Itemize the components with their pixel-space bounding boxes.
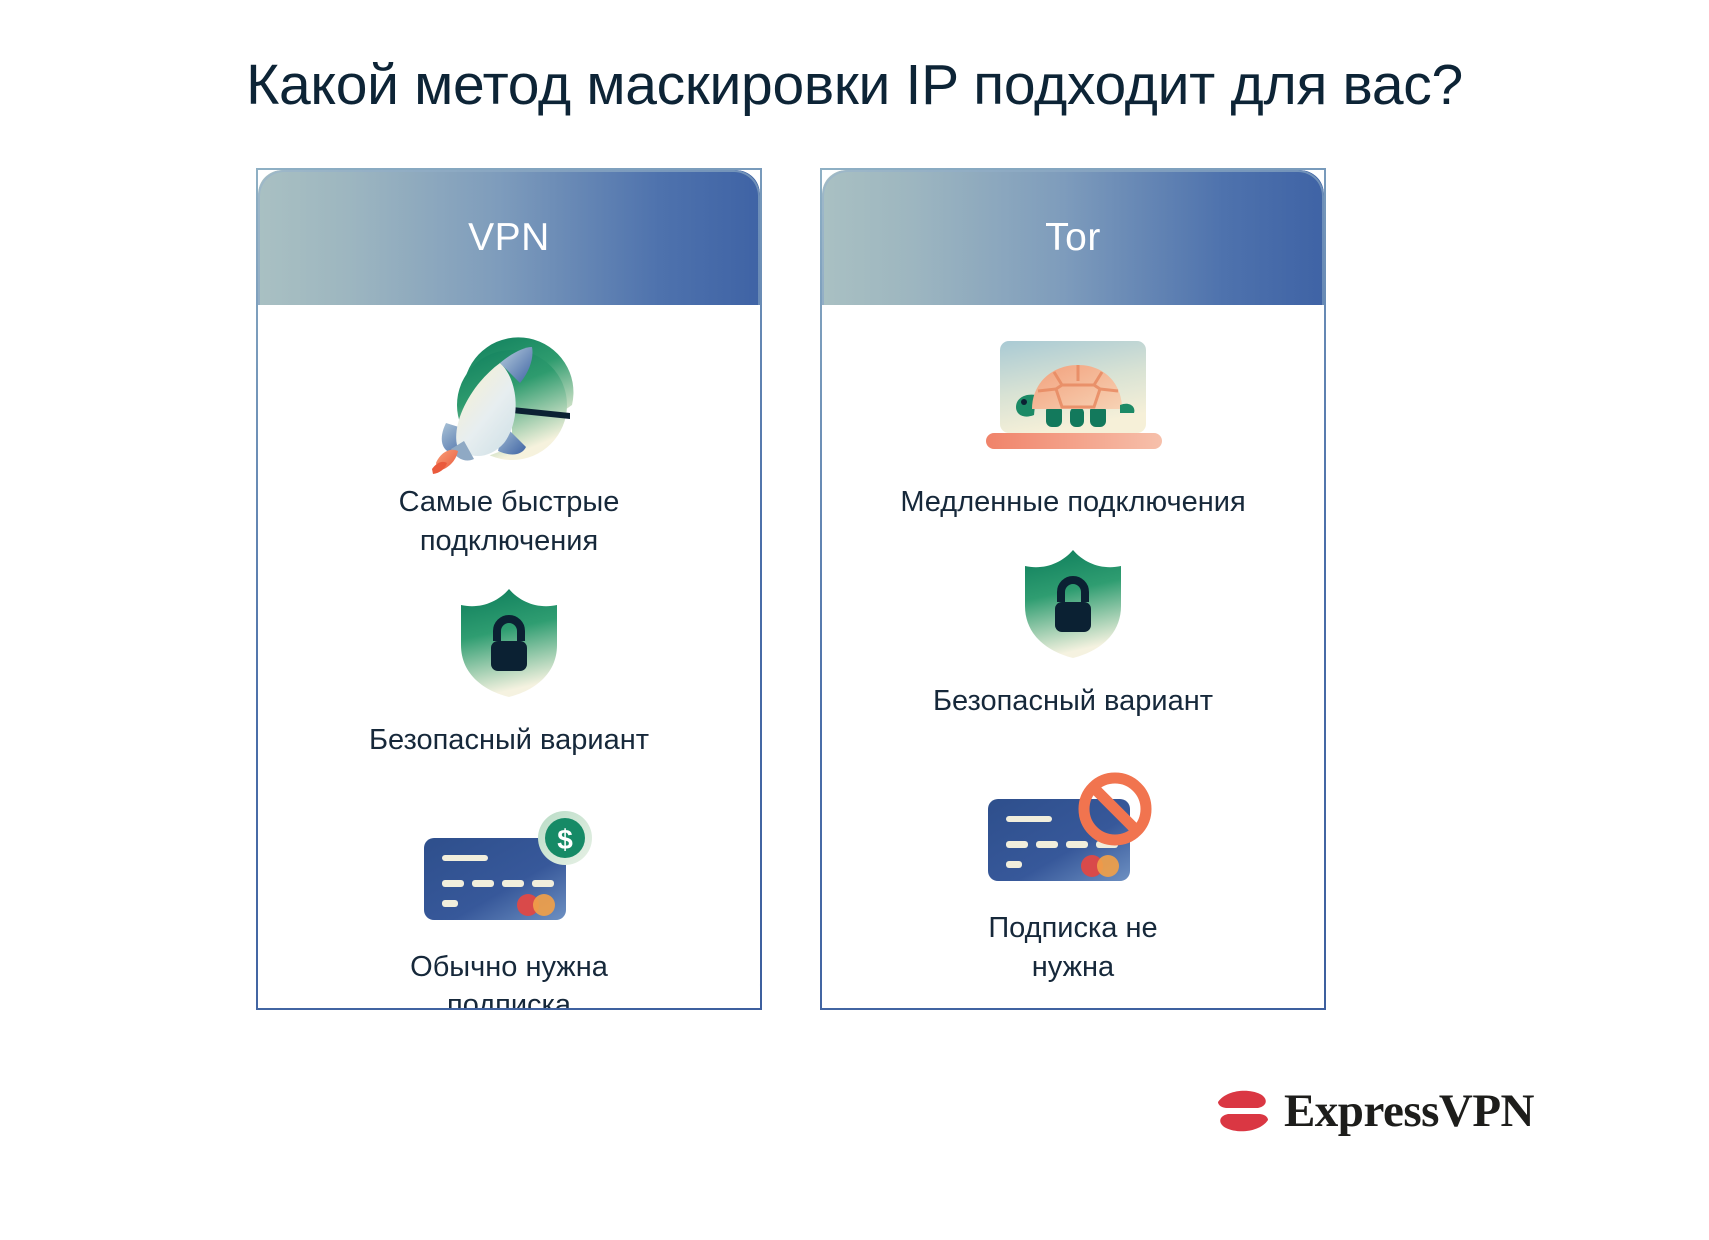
shield-lock-icon — [1017, 544, 1129, 660]
card-header-vpn: VPN — [258, 170, 760, 305]
feature-label-security-vpn: Безопасный вариант — [369, 721, 649, 760]
feature-speed-vpn: Самые быстрые подключения — [258, 327, 760, 561]
card-body-tor: Медленные подключения — [822, 305, 1324, 1008]
expressvpn-logo: ExpressVPN — [1212, 1084, 1534, 1138]
page-title: Какой метод маскировки IP подходит для в… — [0, 52, 1709, 118]
card-title-tor: Tor — [1045, 216, 1101, 260]
expressvpn-logo-text: ExpressVPN — [1284, 1084, 1534, 1138]
expressvpn-logo-icon — [1212, 1084, 1274, 1138]
feature-speed-tor: Медленные подключения — [822, 327, 1324, 522]
feature-security-vpn: Безопасный вариант — [258, 583, 760, 760]
feature-label-speed-vpn: Самые быстрые подключения — [399, 483, 620, 561]
turtle-laptop-icon — [958, 327, 1188, 477]
credit-card-dollar-icon: $ — [414, 808, 604, 928]
feature-subscription-vpn: $ Обычно нужна подписка — [258, 808, 760, 1010]
card-header-tor: Tor — [822, 170, 1324, 305]
card-body-vpn: Самые быстрые подключения — [258, 305, 760, 1010]
feature-label-subscription-vpn: Обычно нужна подписка — [410, 948, 608, 1010]
comparison-cards: VPN — [256, 168, 1326, 1010]
feature-label-speed-tor: Медленные подключения — [900, 483, 1245, 522]
rocket-speedometer-icon — [394, 327, 624, 477]
infographic-page: Какой метод маскировки IP подходит для в… — [0, 0, 1709, 1240]
card-title-vpn: VPN — [468, 216, 550, 260]
feature-security-tor: Безопасный вариант — [822, 544, 1324, 721]
card-vpn: VPN — [256, 168, 762, 1010]
credit-card-prohibited-icon — [978, 769, 1168, 889]
shield-lock-icon — [453, 583, 565, 699]
svg-text:$: $ — [557, 824, 573, 855]
feature-label-security-tor: Безопасный вариант — [933, 682, 1213, 721]
card-tor: Tor — [820, 168, 1326, 1010]
feature-subscription-tor: Подписка не нужна — [822, 769, 1324, 987]
feature-label-subscription-tor: Подписка не нужна — [988, 909, 1157, 987]
